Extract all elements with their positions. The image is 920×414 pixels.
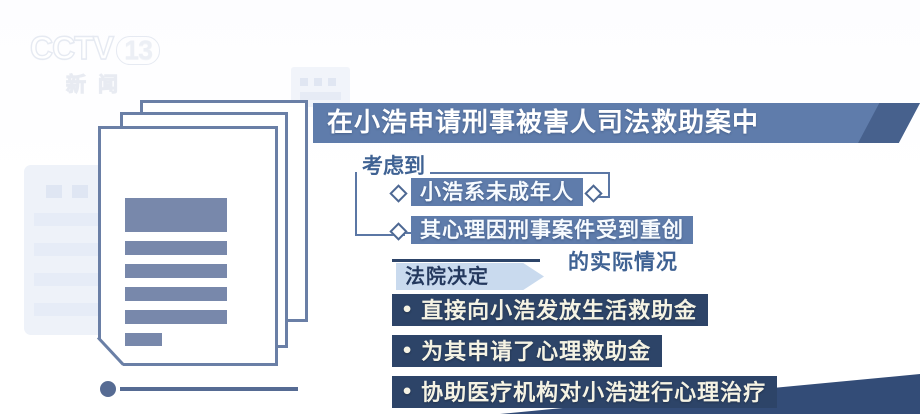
logo-wordmark: CCTV13 — [30, 32, 180, 65]
ghost-square — [46, 185, 62, 198]
decision-item: •协助医疗机构对小浩进行心理治疗 — [392, 376, 777, 408]
bullet-icon: • — [401, 294, 414, 326]
baseline-rule — [120, 387, 298, 391]
reasoning-tail-label: 的实际情况 — [568, 246, 678, 276]
logo-channel-number: 13 — [116, 36, 160, 65]
document-bar — [125, 333, 162, 346]
decision-top-rule — [392, 259, 540, 262]
ghost-square — [72, 185, 88, 198]
cctv-logo: CCTV13 新闻 — [30, 32, 180, 92]
document-bar — [125, 264, 227, 278]
broadcast-graphic-stage: CCTV13 新闻 在小浩申请刑事被害人司法救助案中 考虑到 小浩系未成年人 其… — [0, 0, 920, 414]
ghost-line — [300, 92, 341, 100]
ghost-square — [300, 78, 308, 86]
decision-item: •为其申请了心理救助金 — [392, 335, 662, 367]
document-page-front — [98, 126, 278, 366]
decision-item-text: 协助医疗机构对小浩进行心理治疗 — [421, 381, 766, 406]
decision-label-text: 法院决定 — [405, 263, 489, 290]
bullet-icon: • — [401, 335, 414, 367]
decision-item-text: 为其申请了心理救助金 — [421, 340, 651, 365]
logo-wordmark-text: CCTV — [30, 30, 113, 66]
page-title: 在小浩申请刑事被害人司法救助案中 — [327, 103, 759, 143]
document-bar — [125, 241, 227, 255]
bullet-icon: • — [401, 376, 414, 408]
reasoning-top-rule — [430, 172, 608, 174]
reasoning-item: 小浩系未成年人 — [411, 178, 583, 206]
ghost-square — [314, 78, 322, 86]
document-bar — [125, 287, 227, 301]
document-bar — [125, 310, 227, 324]
logo-subtitle: 新闻 — [66, 68, 180, 97]
ghost-square — [328, 78, 336, 86]
document-bar — [125, 198, 227, 232]
document-stack-icon — [98, 100, 316, 372]
reasoning-item: 其心理因刑事案件受到重创 — [411, 216, 693, 244]
decision-item-text: 直接向小浩发放生活救助金 — [421, 299, 697, 324]
baseline-dot — [100, 381, 116, 397]
decision-label-chip: 法院决定 — [396, 263, 544, 290]
title-banner: 在小浩申请刑事被害人司法救助案中 — [313, 103, 920, 143]
decision-item: •直接向小浩发放生活救助金 — [392, 294, 708, 326]
